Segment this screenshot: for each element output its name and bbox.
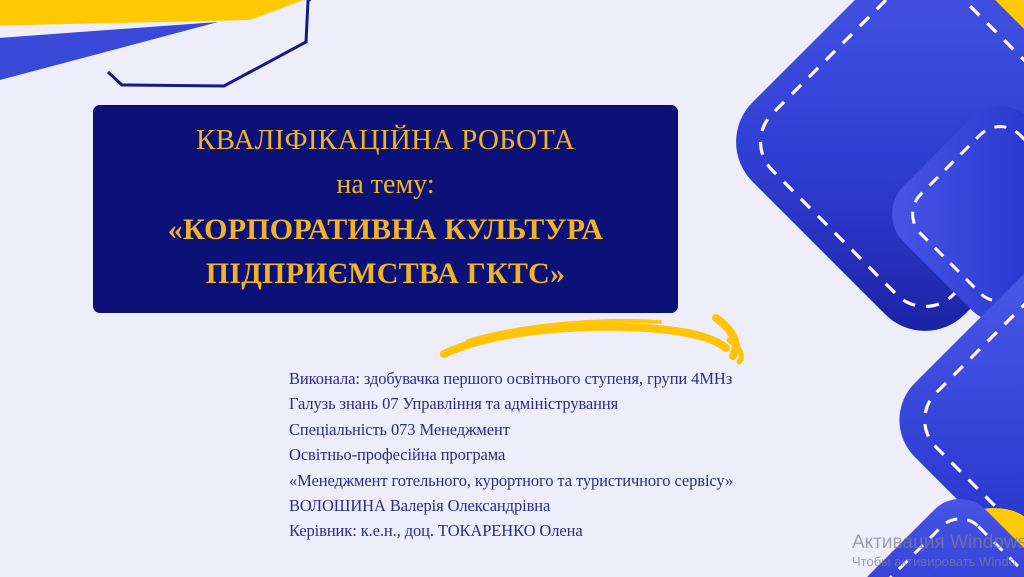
navy-outline-polygon-shape	[108, 0, 318, 86]
meta-line-supervisor: Керівник: к.е.н., доц. ТОКАРЕНКО Олена	[289, 518, 889, 543]
meta-line-author: ВОЛОШИНА Валерія Олександрівна	[289, 493, 889, 518]
title-heading: КВАЛІФІКАЦІЙНА РОБОТА	[196, 126, 575, 155]
meta-line-field: Галузь знань 07 Управління та адміністру…	[289, 391, 889, 416]
activation-watermark-subtitle: Чтобы активировать Windo	[852, 554, 1024, 570]
title-panel: КВАЛІФІКАЦІЙНА РОБОТА на тему: «КОРПОРАТ…	[93, 105, 678, 313]
presentation-slide: КВАЛІФІКАЦІЙНА РОБОТА на тему: «КОРПОРАТ…	[0, 0, 1024, 577]
title-topic-line1: «КОРПОРАТИВНА КУЛЬТУРА	[168, 215, 603, 245]
yellow-rounded-panel-shape	[967, 0, 1024, 244]
yellow-angled-ribbon-shape	[0, 0, 330, 26]
blue-angled-ribbon-shape	[0, 22, 218, 88]
meta-line-program-name: «Менеджмент готельного, курортного та ту…	[289, 468, 889, 493]
dashed-diamond-top-right	[713, 0, 1024, 354]
meta-line-speciality: Спеціальність 073 Менеджмент	[289, 417, 889, 442]
dashed-diamond-right-small	[876, 90, 1024, 339]
yellow-swoosh-flourish	[444, 318, 741, 362]
meta-line-performer: Виконала: здобувачка першого освітнього …	[289, 366, 889, 391]
meta-line-program: Освітньо-професійна програма	[289, 442, 889, 467]
title-topic-line2: ПІДПРИЄМСТВА ГКТС»	[206, 259, 565, 289]
yellow-rounded-block-bottom	[957, 508, 1024, 577]
title-subheading: на тему:	[336, 171, 434, 199]
author-meta-block: Виконала: здобувачка першого освітнього …	[289, 366, 889, 544]
dashed-diamond-bottom-right	[878, 208, 1024, 577]
